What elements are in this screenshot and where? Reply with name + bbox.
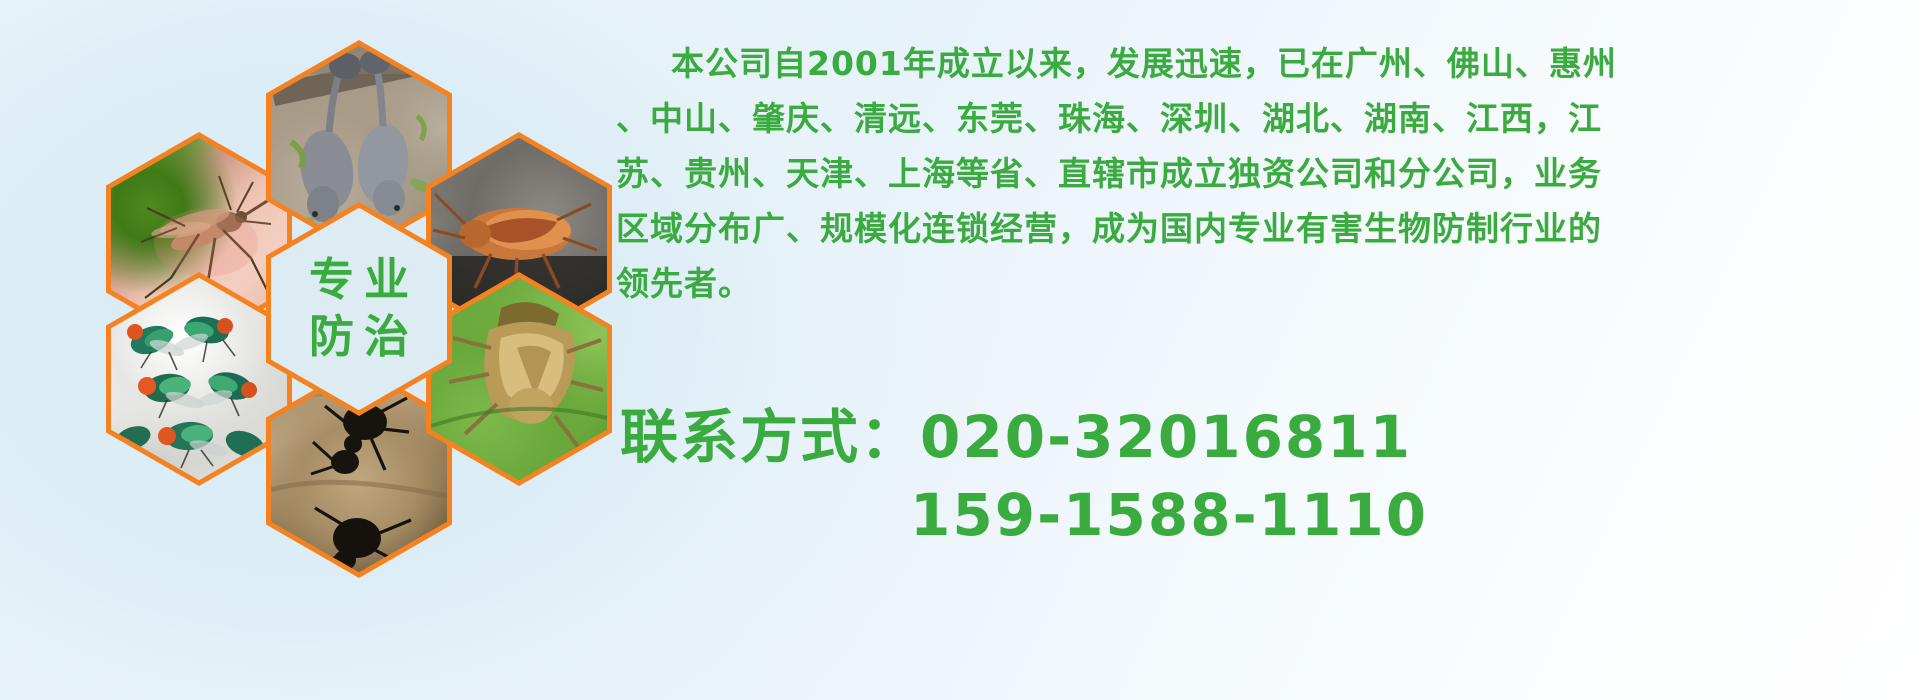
flies-illustration	[111, 278, 287, 480]
honeycomb-collage: 专业 防治	[82, 0, 602, 580]
contact-line-landline[interactable]: 联系方式：020-32016811	[620, 398, 1920, 476]
contact-line-mobile[interactable]: 159-1588-1110	[620, 476, 1920, 554]
intro-line-4: 区域分布广、规模化连锁经营，成为国内专业有害生物防制行业的	[616, 201, 1916, 256]
slogan-line-1: 专业	[299, 256, 419, 305]
center-slogan-hex: 专业 防治	[266, 202, 452, 416]
intro-line-1: 本公司自2001年成立以来，发展迅速，已在广州、佛山、惠州	[616, 36, 1916, 91]
slogan-line-2: 防治	[299, 313, 419, 362]
company-intro-paragraph: 本公司自2001年成立以来，发展迅速，已在广州、佛山、惠州 、中山、肇庆、清远、…	[616, 36, 1916, 311]
intro-line-2: 、中山、肇庆、清远、东莞、珠海、深圳、湖北、湖南、江西，江	[616, 91, 1916, 146]
intro-line-3: 苏、贵州、天津、上海等省、直辖市成立独资公司和分公司，业务	[616, 146, 1916, 201]
stinkbug-illustration	[431, 278, 607, 480]
intro-line-5: 领先者。	[616, 256, 1916, 311]
contact-block: 联系方式：020-32016811 159-1588-1110	[620, 398, 1920, 554]
